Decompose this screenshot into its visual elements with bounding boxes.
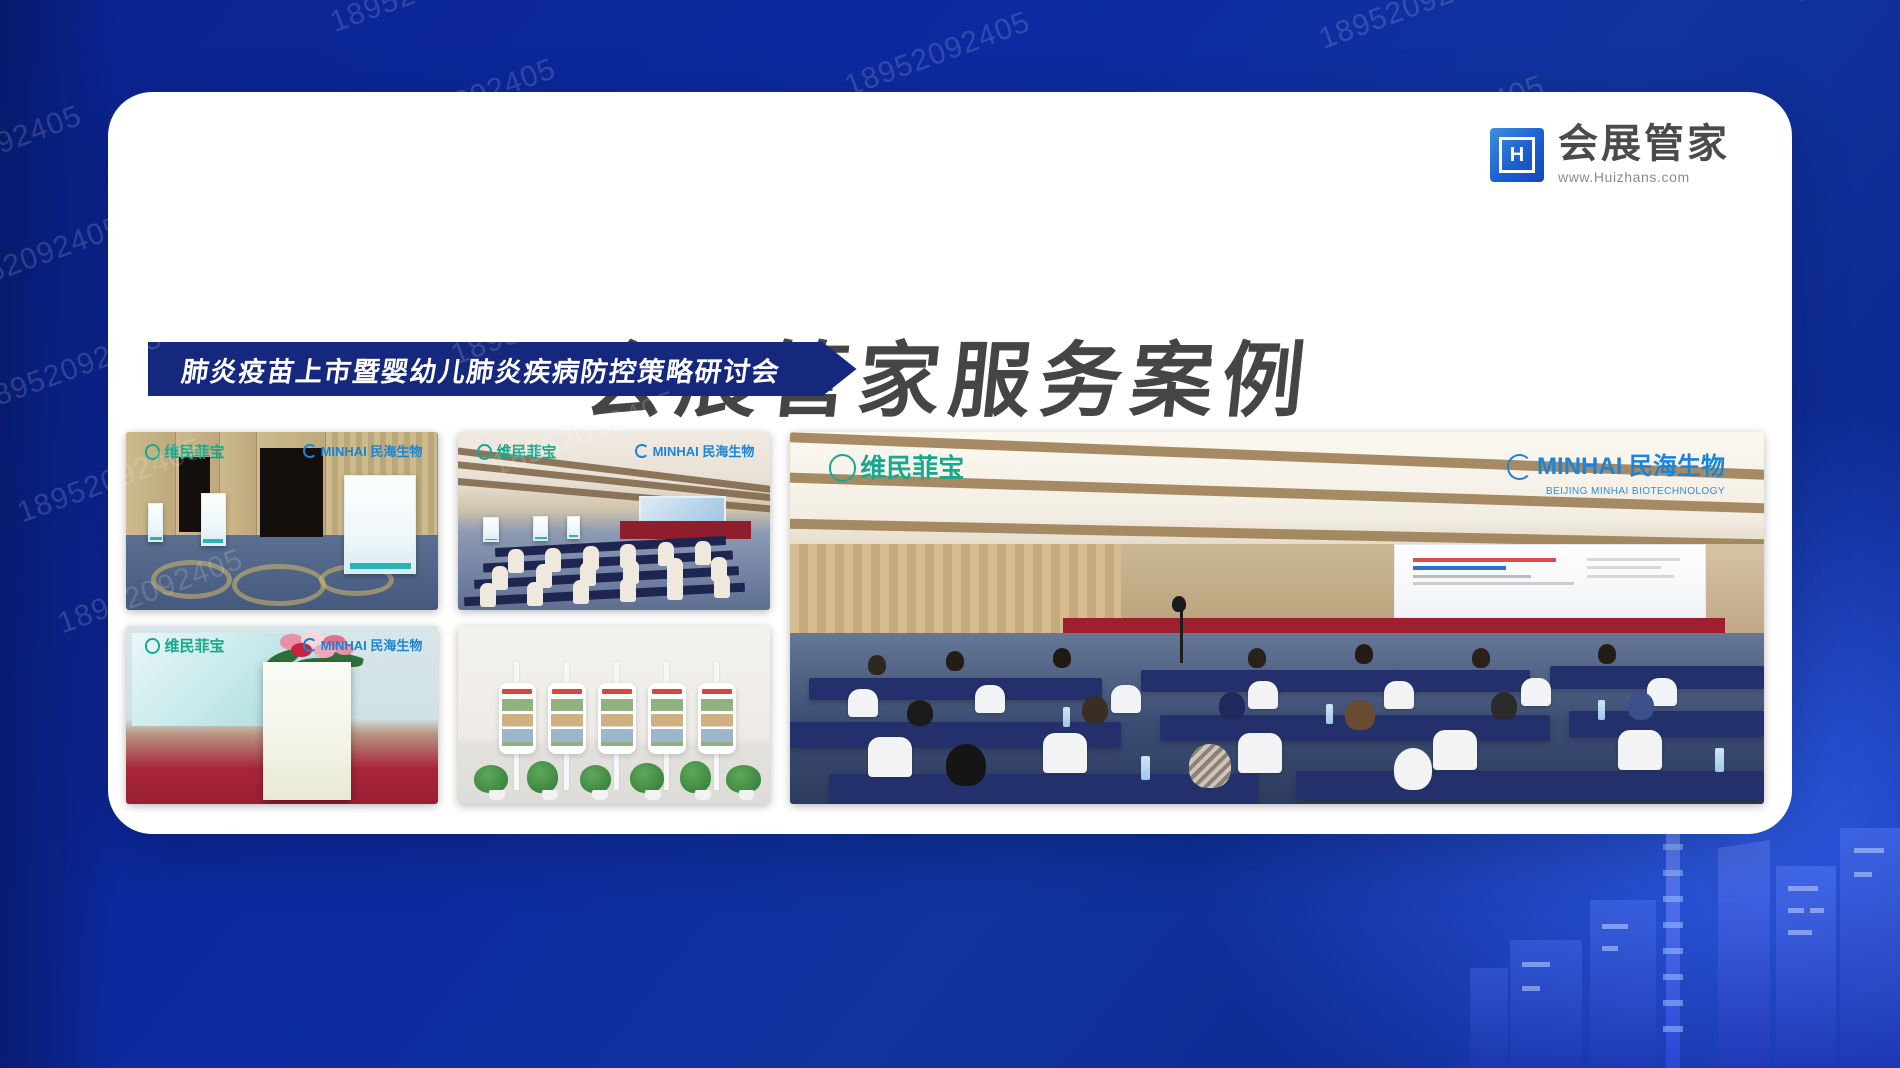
photo-stage-flowers[interactable]: 维民菲宝 MINHAI 民海生物 — [126, 626, 438, 804]
minhai-logo-icon — [635, 444, 649, 458]
photo-logo-minhai: MINHAI 民海生物 — [303, 444, 422, 458]
photo-logo-weimin: 维民菲宝 — [145, 444, 225, 460]
photo-conference-hall[interactable]: 维民菲宝 MINHAI 民海生物 — [458, 432, 770, 610]
brand-url: www.Huizhans.com — [1558, 169, 1690, 185]
background-left-glow — [0, 0, 120, 1068]
photo-scene — [458, 626, 770, 804]
photo-logo-minhai: MINHAI 民海生物 — [635, 444, 754, 458]
minhai-logo-icon — [303, 638, 317, 652]
content-card: H 会展管家 www.Huizhans.com 会展管家服务案例 肺炎疫苗上市暨… — [108, 92, 1792, 834]
photo-logo-weimin: 维民菲宝 — [477, 444, 557, 460]
rollup-banner — [263, 662, 350, 801]
photo-venue-entrance[interactable]: 维民菲宝 MINHAI 民海生物 — [126, 432, 438, 610]
photo-logo-weimin: 维民菲宝 — [145, 638, 225, 654]
section-banner-label: 肺炎疫苗上市暨婴幼儿肺炎疾病防控策略研讨会 — [179, 350, 783, 389]
minhai-logo-icon — [303, 444, 317, 458]
brand-name: 会展管家 — [1558, 124, 1730, 164]
section-banner: 肺炎疫苗上市暨婴幼儿肺炎疾病防控策略研讨会 — [148, 342, 857, 396]
photo-audience-session[interactable]: 维民菲宝 MINHAI 民海生物 BEIJING MINHAI BIOTECHN… — [790, 432, 1764, 804]
minhai-logo-subtitle: BEIJING MINHAI BIOTECHNOLOGY — [1546, 486, 1725, 497]
photo-gallery: 维民菲宝 MINHAI 民海生物 — [126, 432, 1764, 804]
weimin-logo-icon — [477, 444, 493, 460]
brand-mark-letter: H — [1499, 137, 1535, 173]
photo-exhibition-boards[interactable] — [458, 626, 770, 804]
brand-text: 会展管家 www.Huizhans.com — [1558, 124, 1730, 185]
weimin-logo-icon — [145, 444, 161, 460]
photo-logo-minhai: MINHAI 民海生物 — [303, 638, 422, 652]
brand-logo: H 会展管家 www.Huizhans.com — [1490, 124, 1730, 185]
presentation-slide — [1394, 544, 1706, 618]
weimin-logo-icon — [145, 638, 161, 654]
minhai-logo-icon — [1507, 454, 1532, 479]
huizhans-logo-icon: H — [1490, 128, 1544, 182]
weimin-logo-icon — [829, 454, 856, 481]
photo-logo-weimin: 维民菲宝 — [829, 454, 964, 481]
photo-logo-minhai: MINHAI 民海生物 BEIJING MINHAI BIOTECHNOLOGY — [1507, 454, 1725, 496]
